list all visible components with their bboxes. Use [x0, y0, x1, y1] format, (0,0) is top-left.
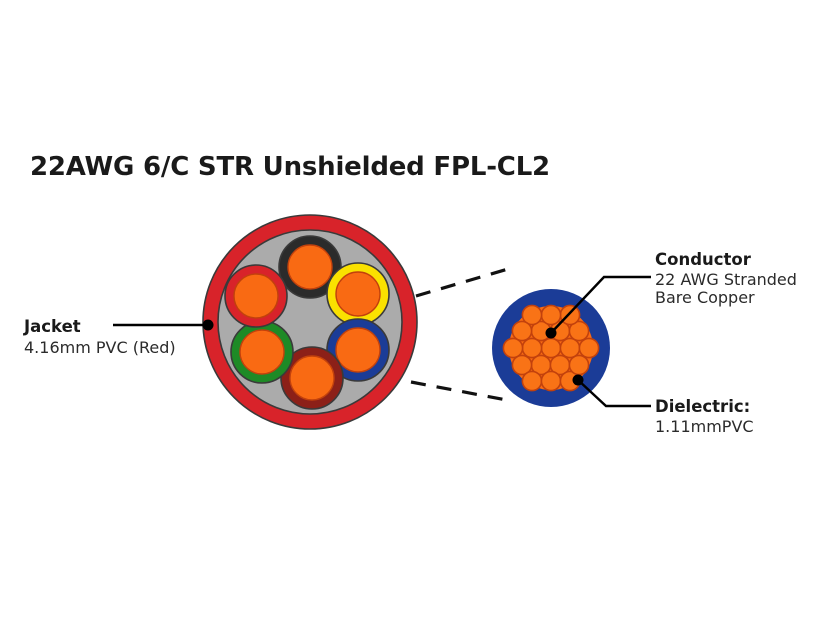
conductor-green	[231, 321, 293, 383]
conductor-yellow	[327, 263, 389, 325]
callout-dash-lower	[411, 382, 512, 401]
dielectric-label-heading: Dielectric:	[655, 397, 750, 416]
jacket-leader-dot	[203, 320, 214, 331]
conductor-black-copper	[288, 245, 332, 289]
callout-dash-upper	[416, 269, 508, 296]
conductor-yellow-copper	[336, 272, 380, 316]
cable-diagram-canvas: 22AWG 6/C STR Unshielded FPL-CL2	[0, 0, 840, 630]
jacket-leader	[113, 320, 214, 331]
conductor-blue-copper	[336, 328, 380, 372]
conductor-red-copper	[234, 274, 278, 318]
page-title: 22AWG 6/C STR Unshielded FPL-CL2	[30, 152, 550, 182]
conductor-label-heading: Conductor	[655, 250, 752, 269]
dielectric-label-line1: 1.11mmPVC	[655, 417, 754, 436]
conductor-leader-dot	[546, 328, 557, 339]
cable-cross-section-figure: 22AWG 6/C STR Unshielded FPL-CL2	[0, 0, 840, 630]
conductor-detail-view	[492, 289, 610, 407]
conductor-label-line1: 22 AWG Stranded	[655, 270, 797, 289]
jacket-label-heading: Jacket	[23, 317, 81, 336]
main-cable-cross-section	[203, 215, 417, 429]
conductor-red	[225, 265, 287, 327]
conductor-label: Conductor 22 AWG Stranded Bare Copper	[655, 250, 797, 307]
conductor-brown-copper	[290, 356, 334, 400]
conductor-green-copper	[240, 330, 284, 374]
dielectric-leader-dot	[573, 375, 584, 386]
jacket-label-line1: 4.16mm PVC (Red)	[24, 338, 176, 357]
conductor-label-line2: Bare Copper	[655, 288, 755, 307]
jacket-label: Jacket 4.16mm PVC (Red)	[23, 317, 176, 357]
dielectric-label: Dielectric: 1.11mmPVC	[655, 397, 754, 436]
